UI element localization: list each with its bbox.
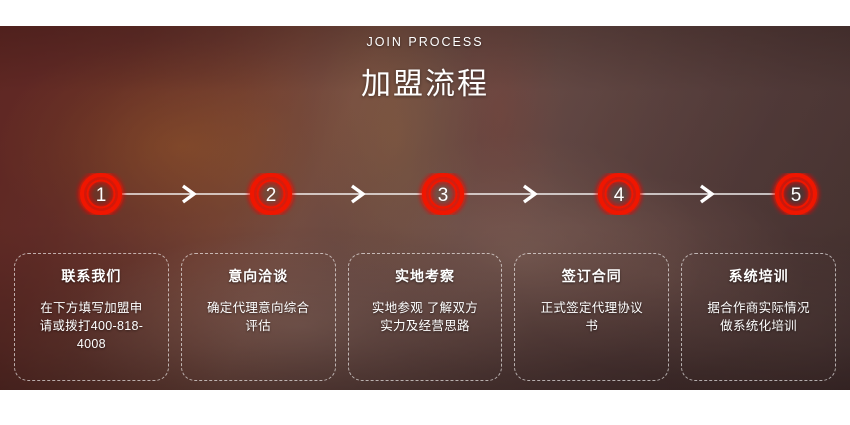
- process-card-4: 签订合同 正式签定代理协议书: [514, 253, 669, 381]
- step-number-3: 3: [438, 185, 449, 206]
- process-step-rail: 1 2 3 4 5: [0, 173, 850, 215]
- card-title: 实地考察: [357, 268, 494, 285]
- process-card-1: 联系我们 在下方填写加盟申请或拨打400-818-4008: [14, 253, 169, 381]
- step-number-2: 2: [266, 185, 277, 206]
- page-title: 加盟流程: [0, 67, 850, 103]
- eyebrow-text: JOIN PROCESS: [0, 36, 850, 49]
- card-description: 确定代理意向综合评估: [190, 299, 327, 335]
- process-card-row: 联系我们 在下方填写加盟申请或拨打400-818-4008 意向洽谈 确定代理意…: [14, 253, 836, 381]
- process-card-5: 系统培训 据合作商实际情况 做系统化培训: [681, 253, 836, 381]
- card-description: 据合作商实际情况 做系统化培训: [690, 299, 827, 335]
- step-numerals: 1 2 3 4 5: [96, 185, 802, 206]
- page-root: JOIN PROCESS 加盟流程: [0, 0, 850, 425]
- step-number-1: 1: [96, 185, 107, 206]
- card-description: 在下方填写加盟申请或拨打400-818-4008: [23, 299, 160, 353]
- step-number-4: 4: [614, 185, 625, 206]
- banner-heading: JOIN PROCESS 加盟流程: [0, 36, 850, 103]
- card-title: 联系我们: [23, 268, 160, 285]
- step-number-5: 5: [791, 185, 802, 206]
- process-card-2: 意向洽谈 确定代理意向综合评估: [181, 253, 336, 381]
- card-description: 实地参观 了解双方实力及经营思路: [357, 299, 494, 335]
- process-card-3: 实地考察 实地参观 了解双方实力及经营思路: [348, 253, 503, 381]
- card-description: 正式签定代理协议书: [523, 299, 660, 335]
- card-title: 意向洽谈: [190, 268, 327, 285]
- card-title: 签订合同: [523, 268, 660, 285]
- card-title: 系统培训: [690, 268, 827, 285]
